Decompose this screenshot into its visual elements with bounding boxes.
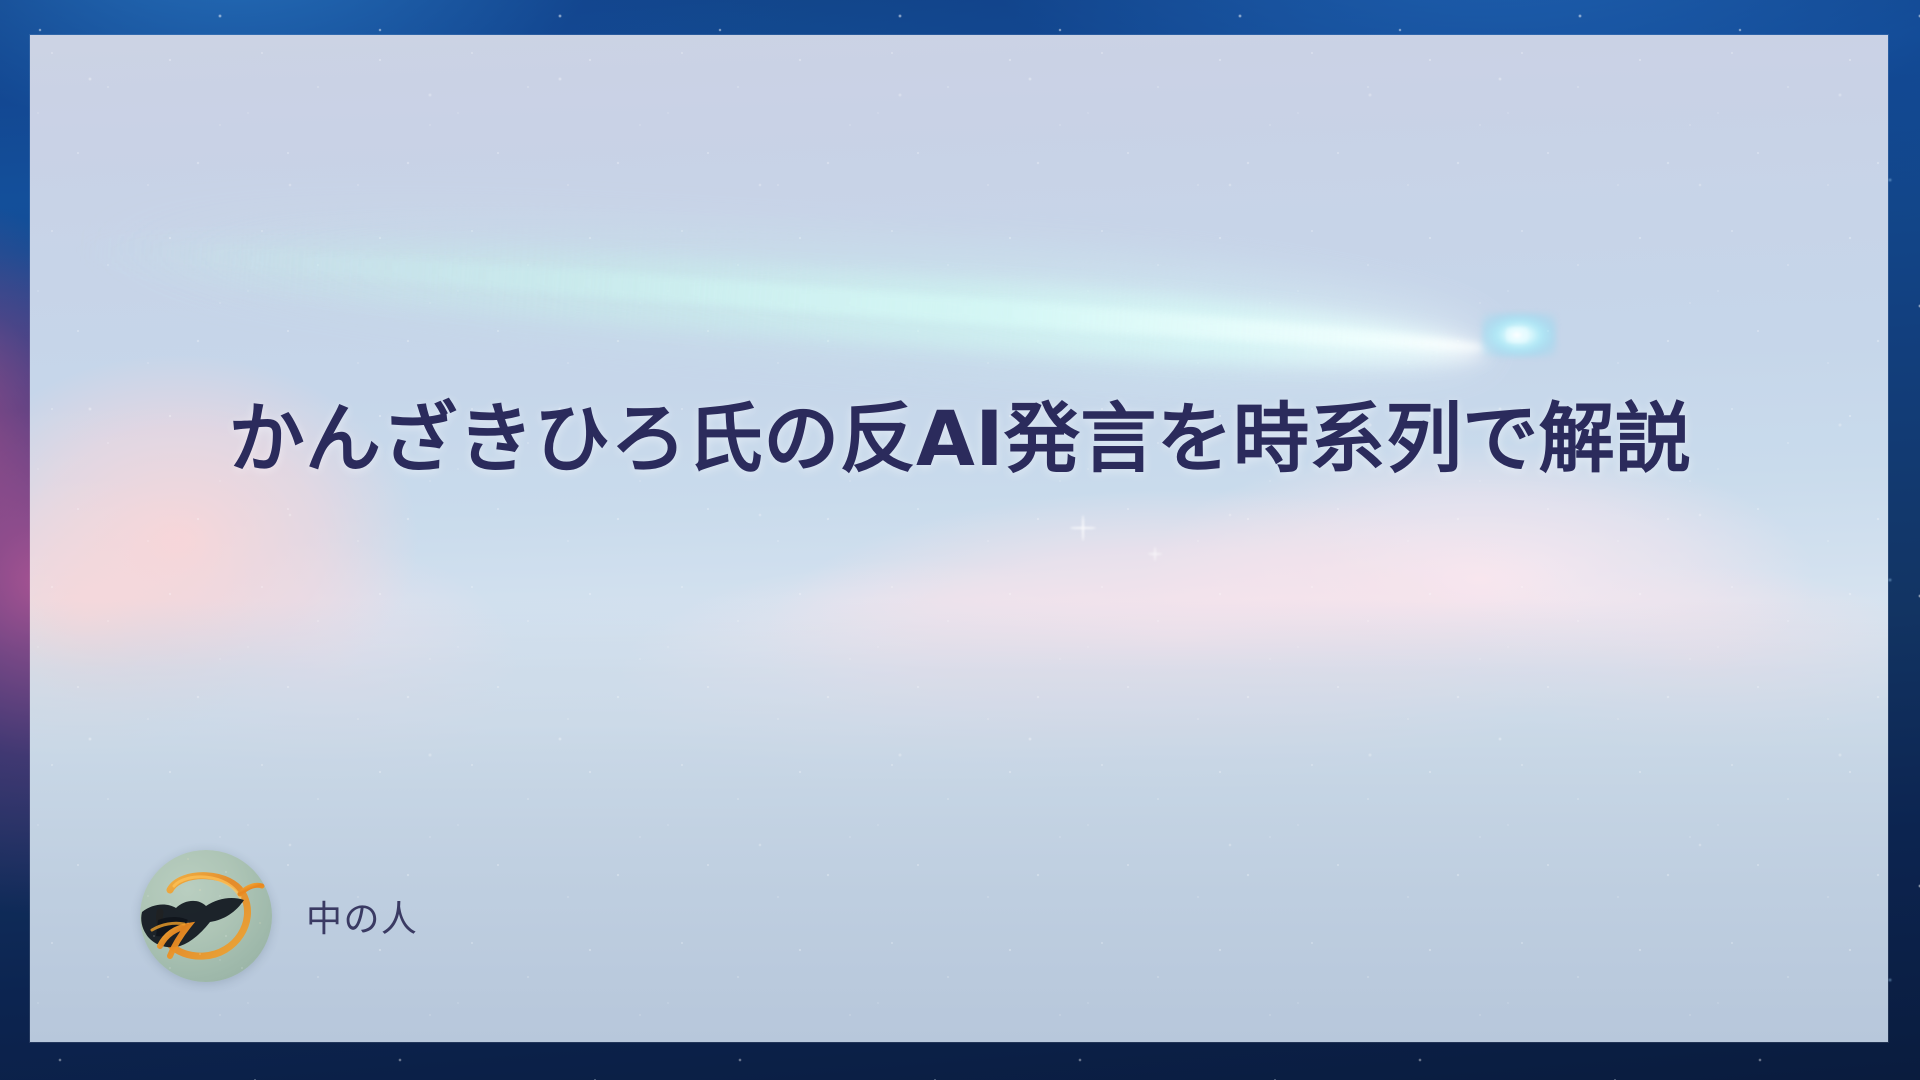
comet-head-glow — [1482, 313, 1556, 357]
author-block: 中の人 — [140, 850, 418, 982]
page-title: かんざきひろ氏の反AI発言を時系列で解説 — [180, 387, 1740, 490]
eyecatch-image: かんざきひろ氏の反AI発言を時系列で解説 — [0, 0, 1920, 1080]
comet-trail-core — [69, 233, 1487, 360]
avatar — [140, 850, 272, 982]
sparkle-icon — [1148, 547, 1162, 561]
sparkle-icon — [1070, 515, 1096, 541]
comet-trail — [67, 215, 1488, 386]
comet-head-core — [1506, 327, 1528, 343]
eyecatch-card: かんざきひろ氏の反AI発言を時系列で解説 — [30, 35, 1888, 1042]
author-name: 中の人 — [306, 890, 418, 942]
comet-trail-glow — [66, 183, 1491, 402]
